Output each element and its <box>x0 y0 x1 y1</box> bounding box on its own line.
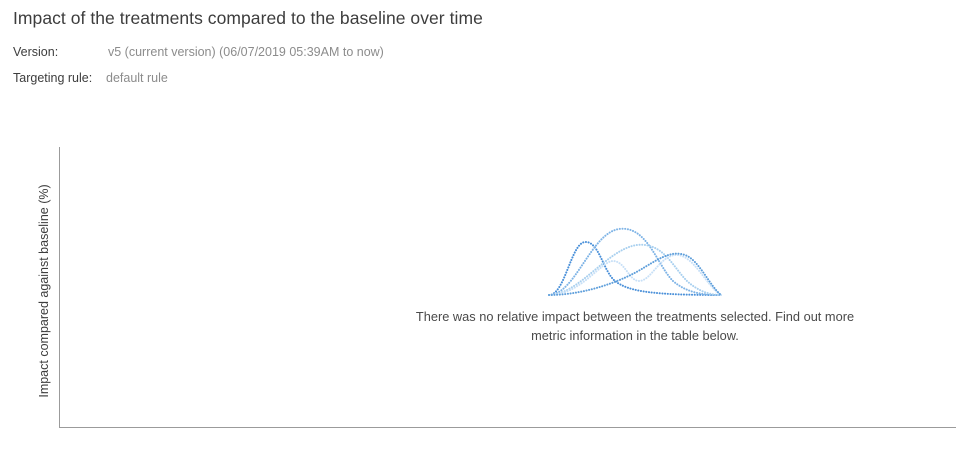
empty-state-message: There was no relative impact between the… <box>400 308 870 345</box>
page-title: Impact of the treatments compared to the… <box>13 8 483 29</box>
version-label: Version: <box>13 45 108 59</box>
version-row: Version:v5 (current version) (06/07/2019… <box>13 45 384 59</box>
y-axis-label: Impact compared against baseline (%) <box>37 151 51 431</box>
x-axis-line <box>59 427 956 428</box>
targeting-rule-label: Targeting rule: <box>13 71 106 85</box>
targeting-rule-value: default rule <box>106 71 168 85</box>
y-axis-line <box>59 147 60 428</box>
empty-state: There was no relative impact between the… <box>380 215 890 345</box>
targeting-rule-row: Targeting rule:default rule <box>13 71 168 85</box>
chart-plot-area: Impact compared against baseline (%) The… <box>0 0 956 457</box>
version-value: v5 (current version) (06/07/2019 05:39AM… <box>108 45 384 59</box>
dotted-wave-curves-icon <box>545 215 725 300</box>
